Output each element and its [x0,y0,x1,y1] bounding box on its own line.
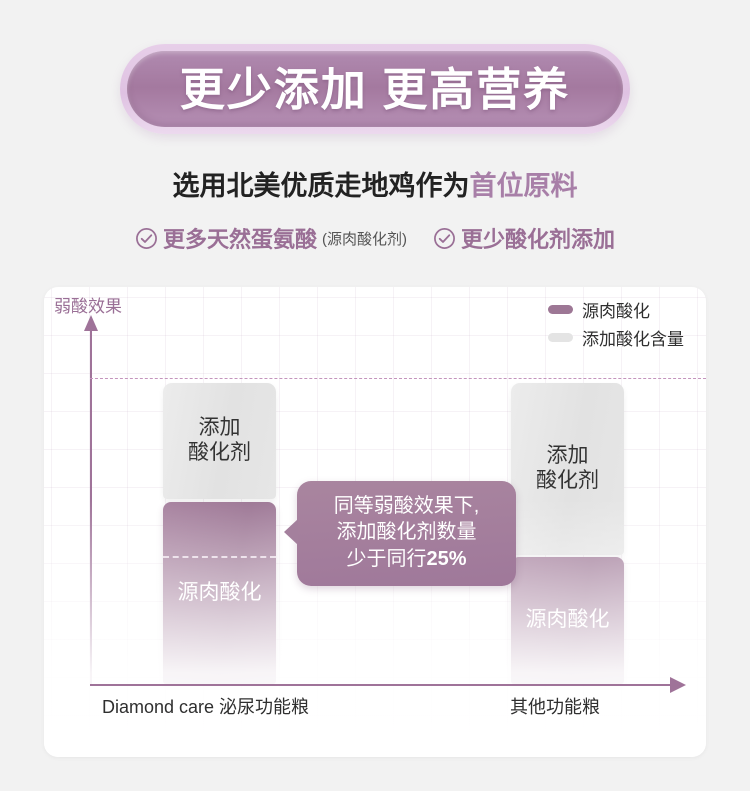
callout-line-3: 少于同行25% [303,546,510,572]
feature-label: 更多天然蛋氨酸 [163,222,317,254]
bar-segment-label: 源肉酸化 [526,608,610,633]
callout-line-2: 添加酸化剂数量 [303,519,510,545]
legend-swatch-icon [548,305,573,314]
callout-line-1: 同等弱酸效果下, [303,493,510,519]
subtitle-plain-text: 选用北美优质走地鸡作为 [173,171,470,201]
x-axis-line [90,684,672,686]
legend-item-added-acidifier: 添加酸化含量 [548,325,684,350]
callout-percent-value: 25% [426,548,466,570]
feature-list: 更多天然蛋氨酸 (源肉酸化剂) 更少酸化剂添加 [0,222,750,254]
feature-item-methionine: 更多天然蛋氨酸 (源肉酸化剂) [135,222,407,254]
bar-segment-label: 添加酸化剂 [536,444,599,494]
callout-line-3-prefix: 少于同行 [346,548,426,570]
bar-segment-label: 添加酸化剂 [188,416,251,466]
feature-item-less-acidifier: 更少酸化剂添加 [433,222,615,254]
feature-label: 更少酸化剂添加 [461,222,615,254]
legend-item-source-meat: 源肉酸化 [548,297,684,322]
legend-swatch-icon [548,333,573,342]
chart-panel: 弱酸效果 源肉酸化 添加酸化含量 添加酸化剂 源肉酸化 添加酸化剂 源肉酸化 同… [44,287,706,757]
callout-tail-icon [284,519,298,545]
chart-legend: 源肉酸化 添加酸化含量 [548,297,684,350]
bar-segment-source-acidification-group2: 源肉酸化 [511,557,624,684]
subtitle-highlight-text: 首位原料 [470,171,578,201]
title-pill: 更少添加 更高营养 [127,51,623,127]
y-axis-label: 弱酸效果 [54,292,122,317]
page-title: 更少添加 更高营养 [180,67,571,112]
x-axis-tick-label-group1: Diamond care 泌尿功能粮 [102,693,309,719]
subtitle: 选用北美优质走地鸡作为首位原料 [0,164,750,203]
bar-segment-source-acidification-group1: 源肉酸化 [163,502,276,684]
bar-segment-added-acidifier-group1: 添加酸化剂 [163,383,276,499]
bar-segment-added-acidifier-group2: 添加酸化剂 [511,383,624,555]
x-axis-tick-label-group2: 其他功能粮 [510,693,600,719]
legend-label: 源肉酸化 [582,297,650,322]
reference-dashed-line [90,378,706,379]
legend-label: 添加酸化含量 [582,325,684,350]
title-outer-ring: 更少添加 更高营养 [120,44,630,134]
check-circle-icon [433,227,456,250]
y-axis-line [90,329,92,685]
callout-bubble: 同等弱酸效果下, 添加酸化剂数量 少于同行25% [297,481,516,586]
check-circle-icon [135,227,158,250]
hero-title-banner: 更少添加 更高营养 [0,44,750,134]
bar-inner-dashed-marker [163,556,276,558]
feature-note: (源肉酸化剂) [322,228,407,249]
x-axis-arrow-icon [670,677,686,693]
bar-segment-label: 源肉酸化 [178,581,262,606]
